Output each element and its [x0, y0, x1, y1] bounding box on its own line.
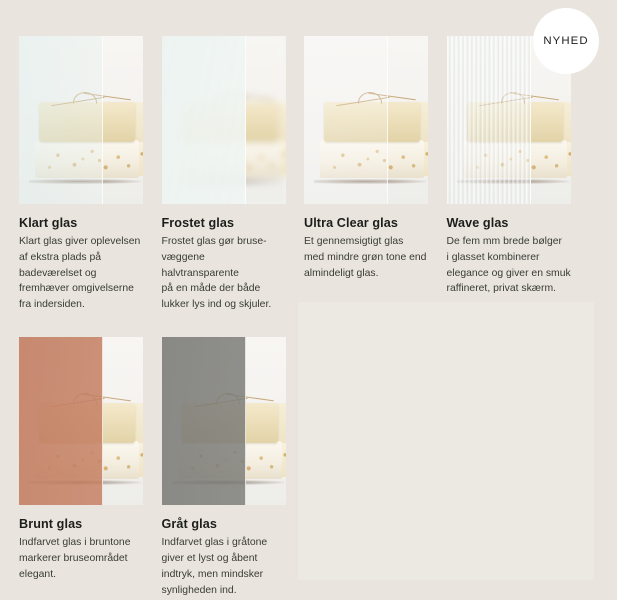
glass-edge	[245, 36, 246, 204]
glass-overlay-clear	[19, 36, 103, 204]
description-line: almindeligt glas.	[304, 266, 427, 282]
description-line: indtryk, men mindsker	[162, 567, 285, 583]
description-line: med mindre grøn tone end	[304, 250, 427, 266]
glass-card-klart-glas[interactable]: Klart glas Klart glas giver oplevelsen a…	[19, 36, 162, 313]
glass-image-brunt-glas	[19, 337, 143, 505]
nyhed-badge-label: NYHED	[543, 35, 588, 47]
description-line: elegance og giver en smuk	[447, 266, 590, 282]
glass-image-klart-glas	[19, 36, 143, 204]
description-line: lukker lys ind og skjuler.	[162, 297, 285, 313]
glass-description-wave-glas: De fem mm brede bølger i glasset kombine…	[447, 234, 590, 297]
description-line: Klart glas giver oplevelsen	[19, 234, 142, 250]
glass-card-graat-glas[interactable]: Gråt glas Indfarvet glas i gråtone giver…	[162, 337, 305, 598]
description-line: Indfarvet glas i gråtone	[162, 535, 285, 551]
glass-edge	[102, 36, 103, 204]
glass-edge	[102, 337, 103, 505]
glass-edge	[245, 337, 246, 505]
description-line: fra indersiden.	[19, 297, 142, 313]
glass-types-grid: Klart glas Klart glas giver oplevelsen a…	[19, 36, 597, 598]
glass-card-wave-glas[interactable]: Wave glas De fem mm brede bølger i glass…	[447, 36, 590, 313]
grid-spacer	[447, 337, 590, 598]
glass-edge	[387, 36, 388, 204]
description-line: Frostet glas gør bruse-	[162, 234, 285, 250]
description-line: væggene halvtransparente	[162, 250, 285, 282]
glass-image-ultra-clear-glas	[304, 36, 428, 204]
glass-title-wave-glas: Wave glas	[447, 216, 590, 230]
description-line: fremhæver omgivelserne	[19, 281, 142, 297]
description-line: raffineret, privat skærm.	[447, 281, 590, 297]
glass-overlay-ultra-clear	[304, 36, 388, 204]
glass-description-graat-glas: Indfarvet glas i gråtone giver et lyst o…	[162, 535, 285, 598]
glass-description-frostet-glas: Frostet glas gør bruse- væggene halvtran…	[162, 234, 285, 313]
glass-card-brunt-glas[interactable]: Brunt glas Indfarvet glas i bruntone mar…	[19, 337, 162, 598]
glass-title-ultra-clear-glas: Ultra Clear glas	[304, 216, 427, 230]
description-line: synligheden ind.	[162, 583, 285, 599]
glass-overlay-frosted	[162, 36, 246, 204]
glass-card-ultra-clear-glas[interactable]: Ultra Clear glas Et gennemsigtigt glas m…	[304, 36, 447, 313]
description-line: giver et lyst og åbent	[162, 551, 285, 567]
description-line: badeværelset og	[19, 266, 142, 282]
description-line: markerer bruseområdet	[19, 551, 142, 567]
description-line: i glasset kombinerer	[447, 250, 590, 266]
glass-image-graat-glas	[162, 337, 286, 505]
glass-image-frostet-glas	[162, 36, 286, 204]
glass-title-graat-glas: Gråt glas	[162, 517, 285, 531]
description-line: på en måde der både	[162, 281, 285, 297]
description-line: elegant.	[19, 567, 142, 583]
description-line: af ekstra plads på	[19, 250, 142, 266]
glass-title-klart-glas: Klart glas	[19, 216, 142, 230]
grid-spacer	[304, 337, 447, 598]
glass-title-frostet-glas: Frostet glas	[162, 216, 285, 230]
glass-types-row-2: Brunt glas Indfarvet glas i bruntone mar…	[19, 337, 597, 598]
glass-description-brunt-glas: Indfarvet glas i bruntone markerer bruse…	[19, 535, 142, 582]
glass-title-brunt-glas: Brunt glas	[19, 517, 142, 531]
glass-overlay-wave	[447, 36, 531, 204]
description-line: De fem mm brede bølger	[447, 234, 590, 250]
glass-overlay-brown	[19, 337, 103, 505]
glass-description-ultra-clear-glas: Et gennemsigtigt glas med mindre grøn to…	[304, 234, 427, 281]
glass-overlay-grey	[162, 337, 246, 505]
nyhed-badge: NYHED	[533, 8, 599, 74]
description-line: Et gennemsigtigt glas	[304, 234, 427, 250]
glass-edge	[530, 36, 531, 204]
description-line: Indfarvet glas i bruntone	[19, 535, 142, 551]
glass-card-frostet-glas[interactable]: Frostet glas Frostet glas gør bruse- væg…	[162, 36, 305, 313]
glass-types-page: NYHED	[0, 0, 617, 600]
glass-types-row-1: Klart glas Klart glas giver oplevelsen a…	[19, 36, 597, 313]
glass-description-klart-glas: Klart glas giver oplevelsen af ekstra pl…	[19, 234, 142, 313]
